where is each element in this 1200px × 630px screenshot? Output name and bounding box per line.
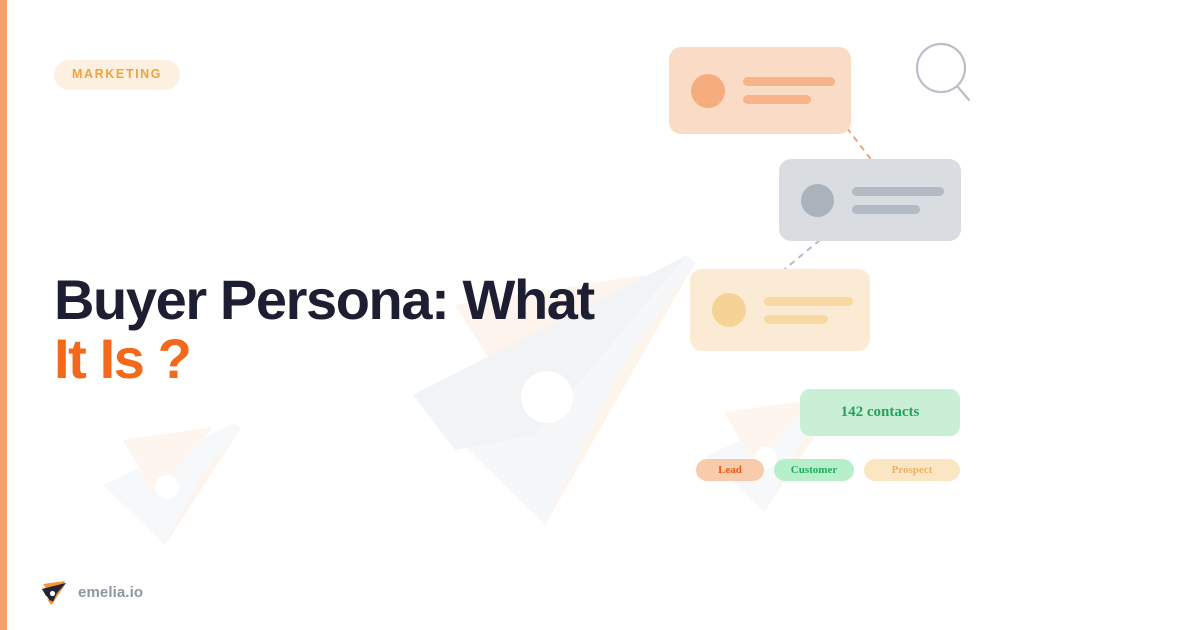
page-title-line-1: Buyer Persona: What (54, 270, 674, 329)
contact-card-gray[interactable] (779, 159, 961, 241)
category-badge[interactable]: MARKETING (54, 60, 180, 90)
page-title-line-2: It Is ? (54, 329, 674, 388)
brand-logo-text: emelia.io (78, 584, 143, 601)
tag-pill-lead[interactable]: Lead (696, 459, 764, 481)
watermark-paper-plane-small-left (95, 415, 245, 555)
contact-card-lines (764, 297, 853, 324)
contact-detail-placeholder-bar (743, 95, 811, 104)
contact-card-cream[interactable] (690, 269, 870, 351)
contacts-count-badge: 142 contacts (800, 389, 960, 436)
contact-card-peach[interactable] (669, 47, 851, 134)
brand-logo[interactable]: emelia.io (40, 578, 143, 606)
contact-name-placeholder-bar (852, 187, 944, 196)
contact-detail-placeholder-bar (852, 205, 920, 214)
tag-pill-customer[interactable]: Customer (774, 459, 854, 481)
social-card-canvas: MARKETING Buyer Persona: What It Is ? (0, 0, 1200, 630)
tag-pill-group: Lead Customer Prospect (696, 459, 960, 481)
contact-detail-placeholder-bar (764, 315, 828, 324)
contact-name-placeholder-bar (743, 77, 835, 86)
avatar (712, 293, 746, 327)
tag-pill-prospect[interactable]: Prospect (864, 459, 960, 481)
contact-name-placeholder-bar (764, 297, 853, 306)
contact-card-lines (743, 77, 835, 104)
left-accent-bar (0, 0, 7, 630)
magnifier-icon (912, 40, 972, 113)
avatar (801, 184, 834, 217)
contact-card-lines (852, 187, 944, 214)
avatar (691, 74, 725, 108)
paper-plane-logo-icon (40, 578, 68, 606)
page-title: Buyer Persona: What It Is ? (54, 270, 674, 389)
